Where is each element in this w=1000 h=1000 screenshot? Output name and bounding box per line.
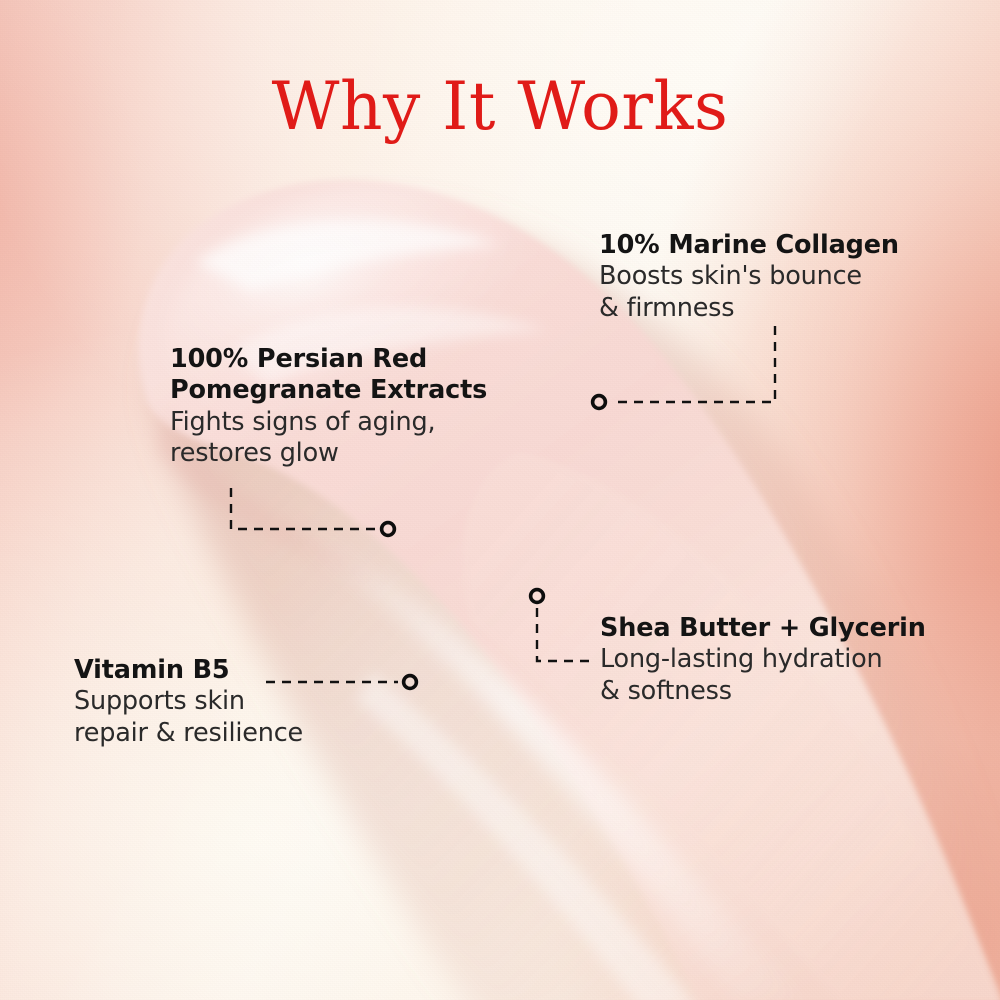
marker-shea-butter-glycerin <box>531 590 544 603</box>
marker-vitamin-b5 <box>404 676 417 689</box>
callout-heading: Shea Butter + Glycerin <box>600 613 930 644</box>
callout-body: Fights signs of aging, restores glow <box>170 407 500 470</box>
callout-vitamin-b5: Vitamin B5 Supports skin repair & resili… <box>74 655 354 749</box>
callout-body: Supports skin repair & resilience <box>74 686 354 749</box>
callout-heading: Vitamin B5 <box>74 655 354 686</box>
callout-heading: 10% Marine Collagen <box>599 230 929 261</box>
callout-body: Long-lasting hydration & softness <box>600 644 930 707</box>
leader-lines <box>0 0 1000 1000</box>
marker-marine-collagen <box>593 396 606 409</box>
leader-marine-collagen <box>612 326 775 402</box>
marker-persian-red-pomegranate <box>382 523 395 536</box>
leader-persian-red-pomegranate <box>231 488 375 529</box>
leader-shea-butter-glycerin <box>537 608 589 661</box>
infographic-canvas: Why It Works 10% Marine Collagen Boosts … <box>0 0 1000 1000</box>
callout-marine-collagen: 10% Marine Collagen Boosts skin's bounce… <box>599 230 929 324</box>
callout-persian-red-pomegranate: 100% Persian Red Pomegranate Extracts Fi… <box>170 344 500 469</box>
callout-heading: 100% Persian Red Pomegranate Extracts <box>170 344 500 407</box>
callout-body: Boosts skin's bounce & firmness <box>599 261 929 324</box>
callout-shea-butter-glycerin: Shea Butter + Glycerin Long-lasting hydr… <box>600 613 930 707</box>
